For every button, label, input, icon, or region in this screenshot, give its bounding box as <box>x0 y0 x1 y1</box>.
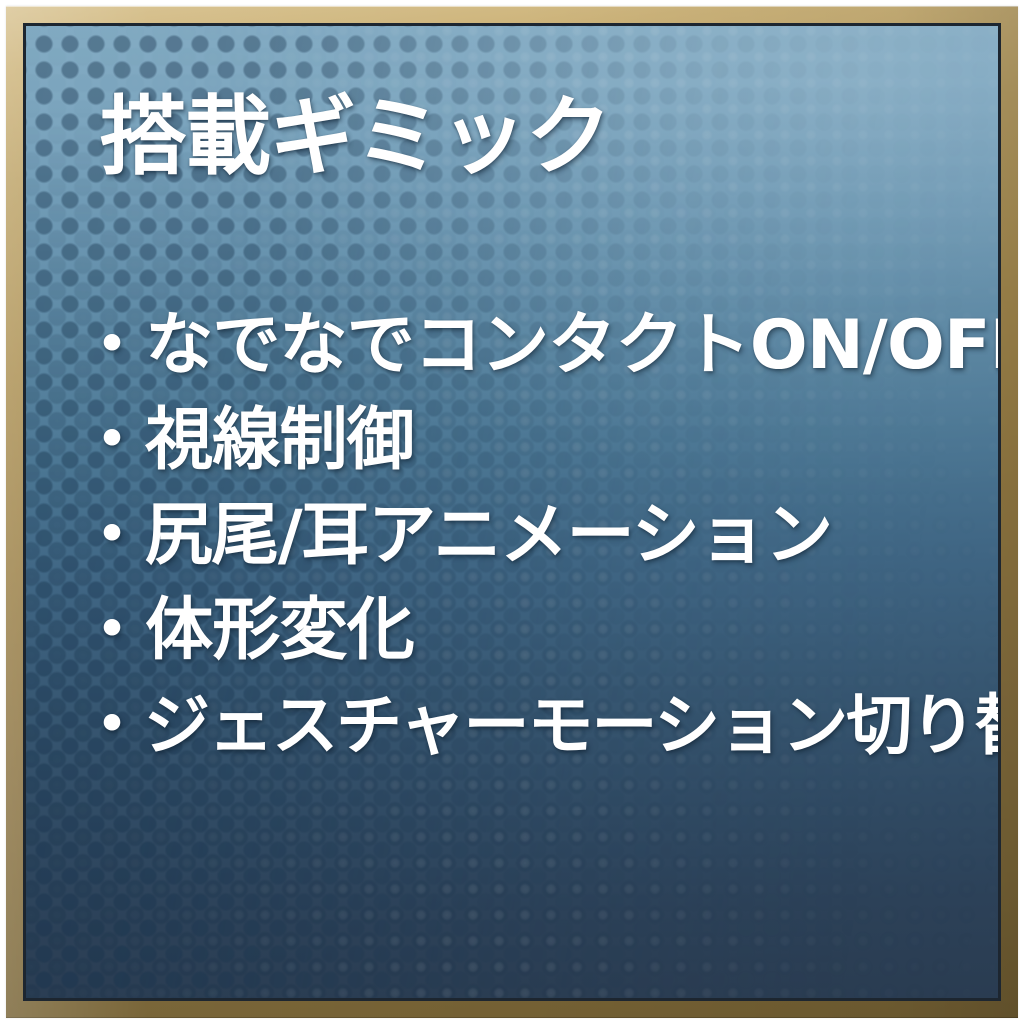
slide-panel: 搭載ギミック ・なでなでコンタクトON/OFF ・視線制御 ・尻尾/耳アニメーシ… <box>26 26 998 998</box>
list-item: ・尻尾/耳アニメーション <box>78 488 982 583</box>
slide-root: 搭載ギミック ・なでなでコンタクトON/OFF ・視線制御 ・尻尾/耳アニメーシ… <box>0 0 1024 1024</box>
list-item-label: ジェスチャーモーション切り替え <box>144 687 998 764</box>
list-item: ・体形変化 <box>78 583 982 678</box>
list-item-label: 視線制御 <box>145 401 414 480</box>
list-item: ・なでなでコンタクトON/OFF <box>78 298 982 393</box>
inner-keyline-border: 搭載ギミック ・なでなでコンタクトON/OFF ・視線制御 ・尻尾/耳アニメーシ… <box>23 23 1001 1001</box>
page-title: 搭載ギミック <box>100 94 611 180</box>
list-item-label: なでなでコンタクトON/OFF <box>145 306 998 385</box>
bullet-marker-icon: ・ <box>78 678 144 773</box>
bullet-marker-icon: ・ <box>78 298 145 393</box>
list-item: ・ジェスチャーモーション切り替え <box>78 678 982 773</box>
list-item-label: 尻尾/耳アニメーション <box>145 496 832 575</box>
gold-frame-border: 搭載ギミック ・なでなでコンタクトON/OFF ・視線制御 ・尻尾/耳アニメーシ… <box>6 6 1018 1018</box>
slide-content: 搭載ギミック ・なでなでコンタクトON/OFF ・視線制御 ・尻尾/耳アニメーシ… <box>26 26 998 998</box>
bullet-marker-icon: ・ <box>78 488 145 583</box>
list-item: ・視線制御 <box>78 393 982 488</box>
bullet-marker-icon: ・ <box>78 583 145 678</box>
list-item-label: 体形変化 <box>145 591 414 670</box>
bullet-marker-icon: ・ <box>78 393 145 488</box>
gimmick-feature-list: ・なでなでコンタクトON/OFF ・視線制御 ・尻尾/耳アニメーション ・体形変… <box>78 298 982 773</box>
